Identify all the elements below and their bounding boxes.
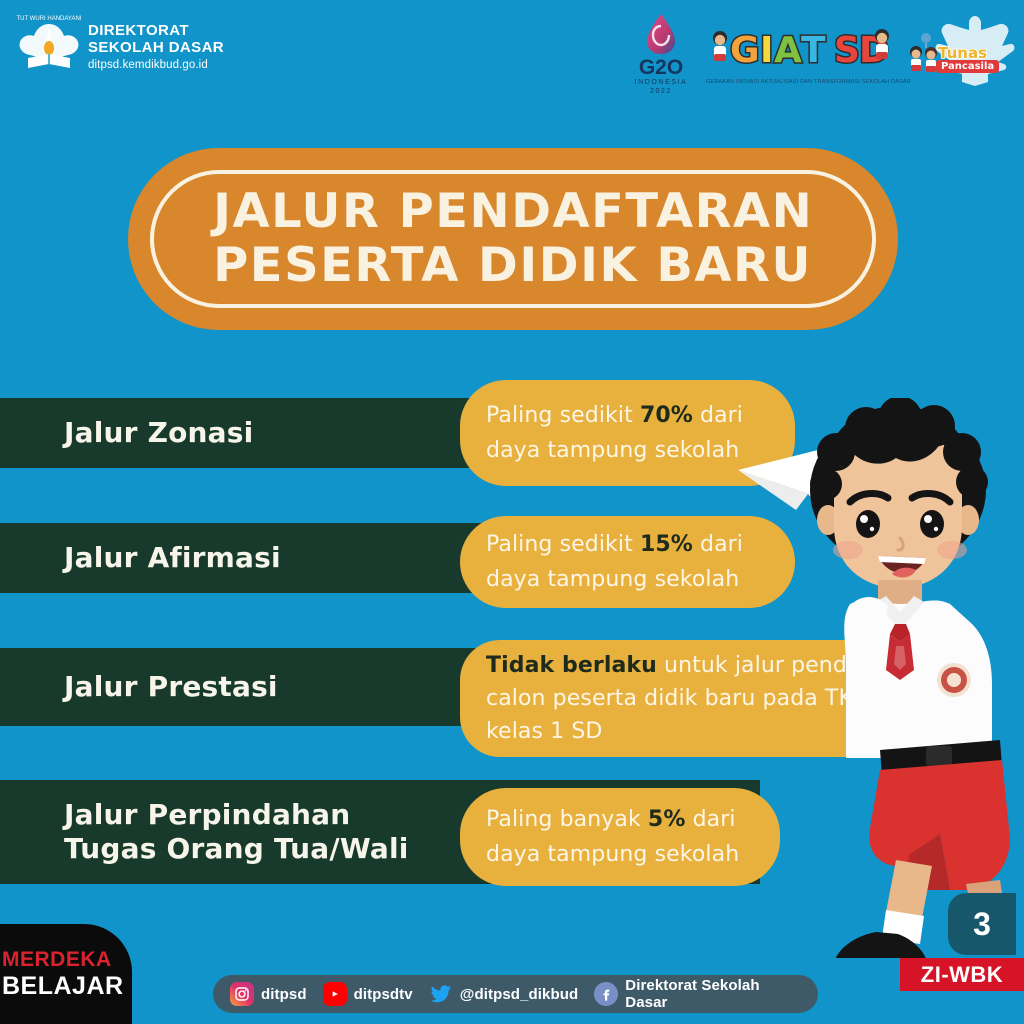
row-label-afirmasi: Jalur Afirmasi [0, 541, 281, 575]
twitter-icon[interactable] [429, 982, 453, 1006]
svg-text:T: T [801, 30, 826, 71]
giat-kid-left-icon [713, 31, 727, 61]
student-character-illustration [700, 398, 1024, 958]
facebook-handle: Direktorat Sekolah Dasar [625, 977, 802, 1011]
title-line-2: PESERTA DIDIK BARU [214, 239, 813, 293]
org-line-1: DIREKTORAT [88, 22, 224, 39]
merdeka-line-2: BELAJAR [2, 972, 124, 1001]
row-label-zonasi: Jalur Zonasi [0, 416, 253, 450]
g20-sub2: 2022 [625, 87, 697, 96]
youtube-handle: ditpsdtv [354, 986, 413, 1003]
bubble-strong-afirmasi: 15% [640, 532, 693, 557]
svg-text:S: S [834, 30, 860, 71]
g20-sub1: INDONESIA [625, 78, 697, 87]
header: TUT WURI HANDAYANI DIREKTORAT SEKOLAH DA… [0, 0, 1024, 110]
svg-text:TUT WURI HANDAYANI: TUT WURI HANDAYANI [16, 16, 81, 22]
merdeka-line-1: MERDEKA [2, 948, 112, 972]
page-number: 3 [973, 906, 991, 943]
g20-label: G2O [625, 57, 697, 78]
giat-tagline: GERAKAN INOVASI AKTUALISASI DAN TRANSFOR… [706, 79, 896, 85]
tut-wuri-handayani-logo: TUT WURI HANDAYANI [14, 10, 84, 82]
social-item-facebook[interactable]: Direktorat Sekolah Dasar [594, 977, 802, 1011]
org-line-2: SEKOLAH DASAR [88, 39, 224, 56]
twitter-handle: @ditpsd_dikbud [460, 986, 579, 1003]
svg-text:I: I [760, 30, 773, 71]
bubble-strong-prestasi: Tidak berlaku [486, 653, 657, 678]
social-media-bar: ditpsd ditpsdtv @ditpsd_dikbud [213, 975, 818, 1013]
social-item-twitter[interactable]: @ditpsd_dikbud [429, 982, 579, 1006]
org-website: ditpsd.kemdikbud.go.id [88, 58, 224, 73]
svg-text:A: A [774, 30, 802, 71]
bubble-pre-perpindahan: Paling banyak [486, 807, 648, 832]
facebook-icon[interactable] [594, 982, 618, 1006]
ziwbk-badge: ZI-WBK [900, 958, 1024, 991]
g20-logo: G2O INDONESIA 2022 [625, 12, 697, 100]
bubble-pre-afirmasi: Paling sedikit [486, 532, 640, 557]
giat-sd-logo: G I A T S D [706, 22, 896, 84]
giat-sd-wordmark: G I A T S D [706, 22, 896, 78]
bubble-pre-zonasi: Paling sedikit [486, 403, 640, 428]
social-item-youtube[interactable]: ditpsdtv [323, 982, 413, 1006]
title-line-1: JALUR PENDAFTARAN [213, 185, 813, 239]
youtube-icon[interactable] [323, 982, 347, 1006]
org-title: DIREKTORAT SEKOLAH DASAR ditpsd.kemdikbu… [88, 22, 224, 73]
g20-droplet-icon [641, 12, 681, 56]
page-title: JALUR PENDAFTARAN PESERTA DIDIK BARU [128, 148, 898, 330]
tunas-line-2: Pancasila [936, 60, 999, 73]
bubble-strong-perpindahan: 5% [648, 807, 686, 832]
row-label-prestasi: Jalur Prestasi [0, 670, 278, 704]
title-banner: JALUR PENDAFTARAN PESERTA DIDIK BARU [128, 148, 898, 330]
instagram-handle: ditpsd [261, 986, 307, 1003]
svg-text:G: G [730, 30, 760, 71]
page-number-badge: 3 [948, 893, 1016, 955]
ziwbk-label: ZI-WBK [921, 962, 1003, 988]
merdeka-belajar-logo: MERDEKA BELAJAR [0, 924, 132, 1024]
social-item-instagram[interactable]: ditpsd [230, 982, 307, 1006]
instagram-icon[interactable] [230, 982, 254, 1006]
infographic-canvas: TUT WURI HANDAYANI DIREKTORAT SEKOLAH DA… [0, 0, 1024, 1024]
tunas-pancasila-logo: Tunas Pancasila [898, 8, 1022, 100]
bubble-strong-zonasi: 70% [640, 403, 693, 428]
row-label-perpindahan: Jalur Perpindahan Tugas Orang Tua/Wali [0, 798, 409, 866]
